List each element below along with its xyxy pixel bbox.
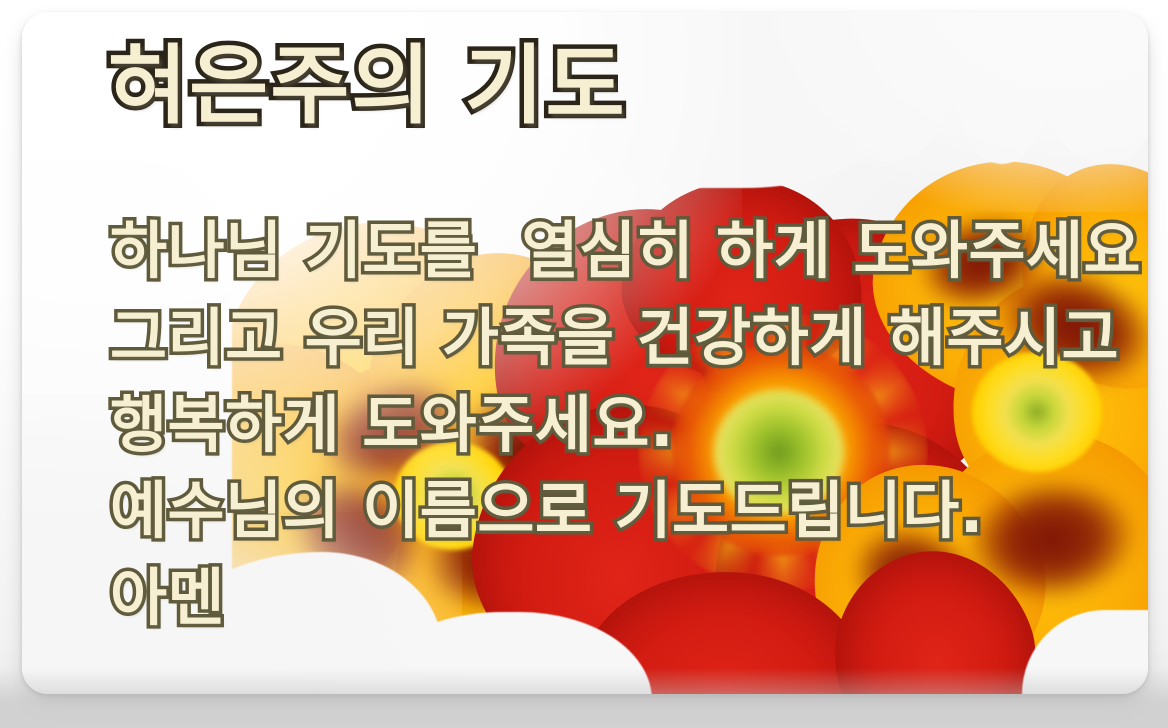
prayer-line: 아멘 [110,555,1130,642]
prayer-line: 예수님의 이름으로 기도드립니다. [110,468,1130,555]
prayer-line: 그리고 우리 가족을 건강하게 해주시고 [110,295,1130,382]
torn-edge [1038,12,1148,162]
slide-stage: 혀은주의 기도 하나님 기도를 열심히 하게 도와주세요 그리고 우리 가족을 … [0,0,1168,728]
torn-edge [952,12,1052,164]
prayer-body: 하나님 기도를 열심히 하게 도와주세요 그리고 우리 가족을 건강하게 해주시… [110,208,1130,642]
prayer-line: 행복하게 도와주세요. [110,382,1130,469]
page-title: 혀은주의 기도 [108,38,627,134]
torn-edge [840,12,960,162]
prayer-line: 하나님 기도를 열심히 하게 도와주세요 [110,208,1130,295]
torn-edge [582,12,882,188]
slide-card: 혀은주의 기도 하나님 기도를 열심히 하게 도와주세요 그리고 우리 가족을 … [22,12,1148,694]
